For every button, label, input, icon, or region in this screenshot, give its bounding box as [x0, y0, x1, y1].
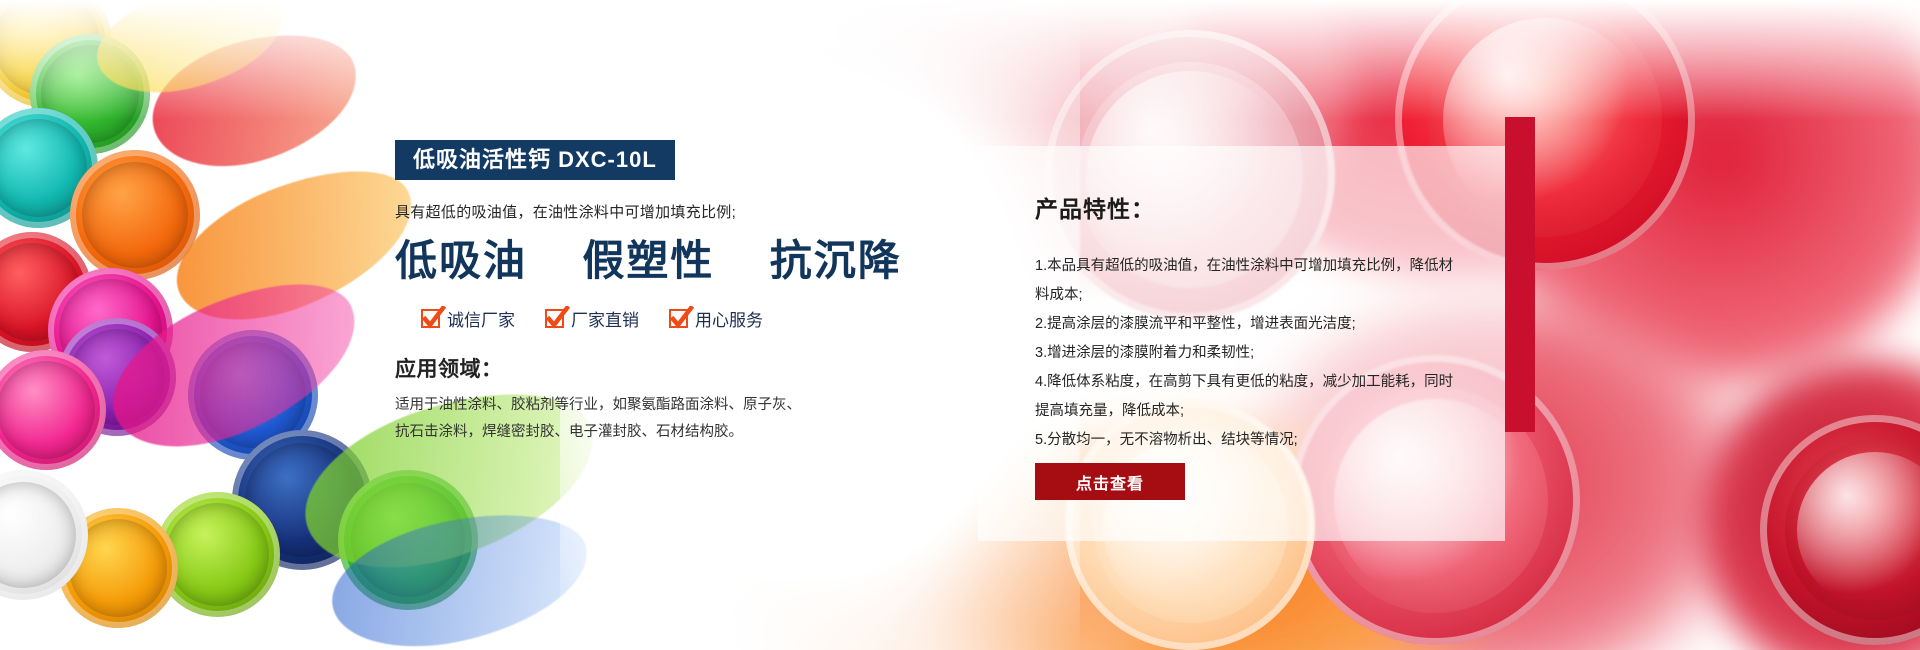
trust-badge-list: 诚信厂家 厂家直销 用心服务: [421, 306, 955, 331]
trust-badge-item: 诚信厂家: [421, 306, 515, 331]
application-description: 适用于油性涂料、胶粘剂等行业，如聚氨酯路面涂料、原子灰、抗石击涂料，焊缝密封胶、…: [395, 392, 810, 446]
feature-item: 2.提高涂层的漆膜流平和平整性，增进表面光洁度;: [1035, 310, 1465, 339]
trust-badge-label: 诚信厂家: [447, 306, 515, 331]
headline-part-1: 低吸油: [395, 237, 527, 284]
feature-item: 3.增进涂层的漆膜附着力和柔韧性;: [1035, 339, 1465, 368]
features-panel-title: 产品特性：: [1035, 190, 1465, 224]
banner-stage: 低吸油活性钙 DXC-10L 具有超低的吸油值，在油性涂料中可增加填充比例; 低…: [0, 0, 1920, 650]
feature-item: 1.本品具有超低的吸油值，在油性涂料中可增加填充比例，降低材料成本;: [1035, 252, 1465, 310]
feature-item: 5.分散均一，无不溶物析出、结块等情况;: [1035, 426, 1465, 455]
checkbox-checked-icon: [421, 309, 440, 328]
view-details-button[interactable]: 点击查看: [1035, 463, 1185, 500]
product-headline: 低吸油 假塑性 抗沉降: [395, 238, 955, 284]
feature-item: 4.降低体系粘度，在高剪下具有更低的粘度，减少加工能耗，同时提高填充量，降低成本…: [1035, 368, 1465, 426]
features-panel-content: 产品特性： 1.本品具有超低的吸油值，在油性涂料中可增加填充比例，降低材料成本;…: [1035, 190, 1465, 455]
headline-part-2: 假塑性: [582, 237, 714, 284]
features-list: 1.本品具有超低的吸油值，在油性涂料中可增加填充比例，降低材料成本; 2.提高涂…: [1035, 252, 1465, 455]
background-artwork: [0, 0, 1920, 650]
trust-badge-item: 厂家直销: [545, 306, 639, 331]
checkbox-checked-icon: [669, 309, 688, 328]
application-title: 应用领域：: [395, 353, 955, 383]
headline-part-3: 抗沉降: [770, 237, 902, 284]
product-subtitle: 具有超低的吸油值，在油性涂料中可增加填充比例;: [395, 201, 955, 222]
trust-badge-item: 用心服务: [669, 306, 763, 331]
checkbox-checked-icon: [545, 309, 564, 328]
trust-badge-label: 用心服务: [695, 306, 763, 331]
left-content-block: 低吸油活性钙 DXC-10L 具有超低的吸油值，在油性涂料中可增加填充比例; 低…: [395, 140, 955, 446]
product-title-badge: 低吸油活性钙 DXC-10L: [395, 140, 675, 180]
background-white-fade-top: [0, 0, 1920, 120]
trust-badge-label: 厂家直销: [571, 306, 639, 331]
panel-accent-bar: [1505, 117, 1535, 432]
